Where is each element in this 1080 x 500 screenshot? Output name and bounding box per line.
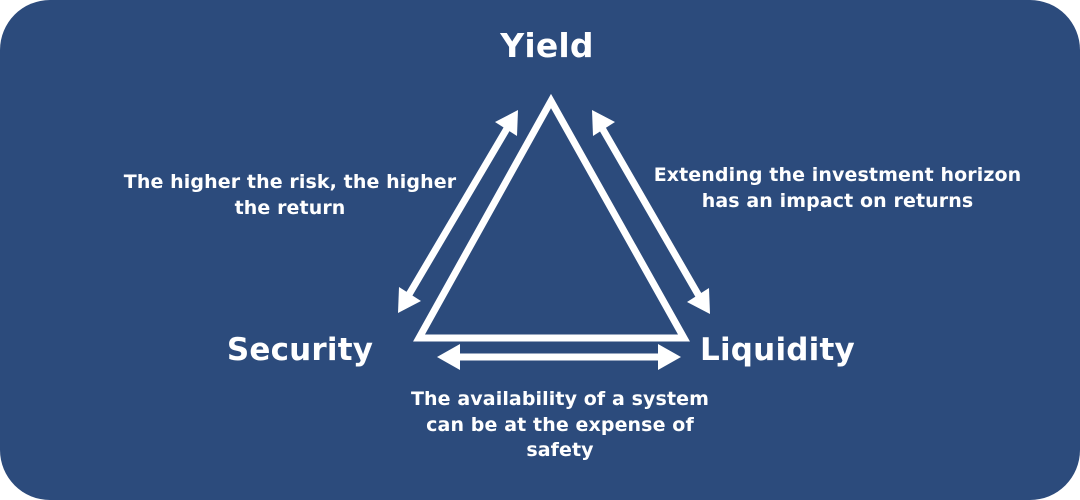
caption-yield-liquidity: Extending the investment horizon has an … [650,163,1025,214]
vertex-label-yield: Yield [0,28,1080,64]
caption-security-yield: The higher the risk, the higher the retu… [110,170,470,221]
caption-security-liquidity: The availability of a system can be at t… [410,387,710,464]
diagram-canvas: Yield Security Liquidity The higher the … [0,0,1080,500]
arrow-security-liquidity [437,344,681,370]
vertex-label-security: Security [150,333,450,367]
vertex-label-liquidity: Liquidity [700,333,1000,367]
